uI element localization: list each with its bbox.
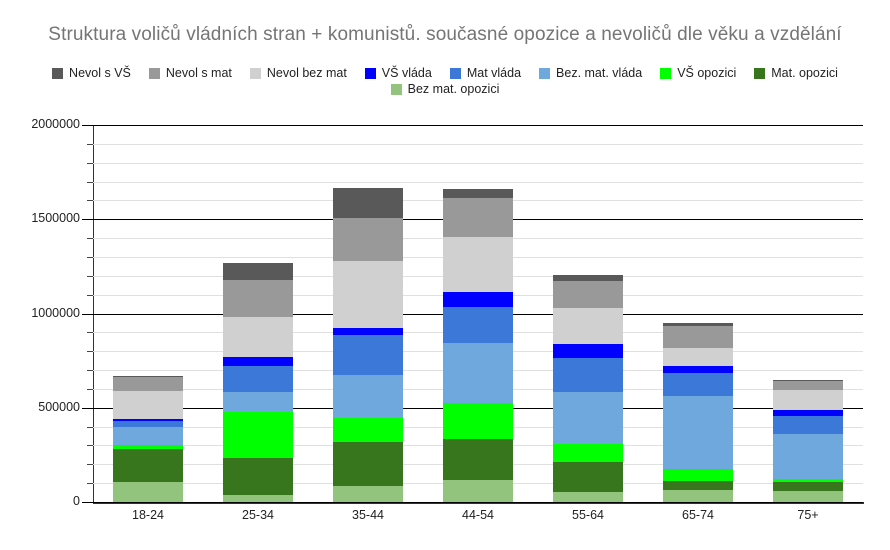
y-axis-tick bbox=[87, 182, 93, 183]
y-axis-tick bbox=[87, 238, 93, 239]
bar-segment[interactable] bbox=[223, 458, 293, 495]
bar-segment[interactable] bbox=[223, 263, 293, 280]
bar-segment[interactable] bbox=[443, 292, 513, 307]
y-axis-tick bbox=[87, 200, 93, 201]
y-axis-tick-label: 1000000 bbox=[6, 306, 80, 320]
bar-segment[interactable] bbox=[663, 373, 733, 396]
bar-segment[interactable] bbox=[443, 343, 513, 403]
y-axis-tick bbox=[87, 163, 93, 164]
legend-swatch-icon bbox=[250, 68, 261, 79]
y-axis-tick bbox=[87, 370, 93, 371]
bar-segment[interactable] bbox=[333, 486, 403, 502]
x-axis-tick-label: 75+ bbox=[748, 508, 868, 522]
y-axis-tick bbox=[82, 502, 93, 503]
bar-segment[interactable] bbox=[553, 358, 623, 392]
legend-swatch-icon bbox=[149, 68, 160, 79]
bar-stack[interactable] bbox=[223, 125, 293, 502]
y-axis-tick bbox=[82, 125, 93, 126]
bar-segment[interactable] bbox=[223, 366, 293, 392]
legend-item[interactable]: Nevol bez mat bbox=[250, 66, 347, 80]
bar-segment[interactable] bbox=[553, 344, 623, 358]
bar-segment[interactable] bbox=[663, 481, 733, 489]
bar-segment[interactable] bbox=[773, 434, 843, 479]
bar-segment[interactable] bbox=[333, 328, 403, 335]
bar-segment[interactable] bbox=[663, 396, 733, 469]
bar-stack[interactable] bbox=[333, 125, 403, 502]
y-axis-tick bbox=[82, 219, 93, 220]
bar-segment[interactable] bbox=[113, 449, 183, 482]
bar-segment[interactable] bbox=[113, 421, 183, 427]
legend-item-label: Bez mat. opozici bbox=[408, 82, 500, 96]
legend-item-label: Mat vláda bbox=[467, 66, 521, 80]
bar-stack[interactable] bbox=[553, 125, 623, 502]
legend-item-label: Nevol bez mat bbox=[267, 66, 347, 80]
legend-swatch-icon bbox=[391, 84, 402, 95]
x-axis-tick-label: 18-24 bbox=[88, 508, 208, 522]
legend-item-label: VŠ opozici bbox=[677, 66, 736, 80]
y-axis-tick bbox=[87, 464, 93, 465]
legend-swatch-icon bbox=[539, 68, 550, 79]
y-axis-tick-label: 2000000 bbox=[6, 117, 80, 131]
bar-segment[interactable] bbox=[773, 491, 843, 502]
legend-item[interactable]: Bez. mat. vláda bbox=[539, 66, 642, 80]
legend-item-label: VŠ vláda bbox=[382, 66, 432, 80]
legend-item[interactable]: Nevol s mat bbox=[149, 66, 232, 80]
bar-segment[interactable] bbox=[333, 188, 403, 218]
y-axis-tick bbox=[82, 314, 93, 315]
y-axis-tick bbox=[87, 257, 93, 258]
legend-item-label: Bez. mat. vláda bbox=[556, 66, 642, 80]
bar-segment[interactable] bbox=[773, 390, 843, 410]
y-axis-tick bbox=[87, 144, 93, 145]
bar-segment[interactable] bbox=[443, 307, 513, 343]
x-axis-tick-label: 25-34 bbox=[198, 508, 318, 522]
x-axis-tick-label: 44-54 bbox=[418, 508, 538, 522]
x-axis-tick-label: 35-44 bbox=[308, 508, 428, 522]
bar-segment[interactable] bbox=[113, 376, 183, 377]
bar-segment[interactable] bbox=[553, 308, 623, 344]
y-axis-tick bbox=[87, 445, 93, 446]
bar-segment[interactable] bbox=[223, 357, 293, 366]
bar-stack[interactable] bbox=[443, 125, 513, 502]
bar-segment[interactable] bbox=[443, 237, 513, 292]
bar-segment[interactable] bbox=[223, 317, 293, 357]
bar-segment[interactable] bbox=[773, 410, 843, 416]
bar-segment[interactable] bbox=[113, 391, 183, 419]
bar-segment[interactable] bbox=[553, 392, 623, 444]
legend-swatch-icon bbox=[660, 68, 671, 79]
bar-segment[interactable] bbox=[663, 366, 733, 374]
bar-stack[interactable] bbox=[773, 125, 843, 502]
bar-segment[interactable] bbox=[223, 495, 293, 502]
bar-segment[interactable] bbox=[333, 335, 403, 375]
y-axis-tick bbox=[87, 427, 93, 428]
bar-segment[interactable] bbox=[773, 479, 843, 482]
bar-segment[interactable] bbox=[113, 482, 183, 502]
bar-segment[interactable] bbox=[443, 189, 513, 198]
bar-segment[interactable] bbox=[553, 492, 623, 502]
legend-swatch-icon bbox=[365, 68, 376, 79]
legend-item[interactable]: Mat. opozici bbox=[754, 66, 838, 80]
y-axis-tick bbox=[87, 483, 93, 484]
chart-container: Struktura voličů vládních stran + komuni… bbox=[0, 0, 890, 550]
legend-item[interactable]: Bez mat. opozici bbox=[391, 82, 500, 96]
bar-segment[interactable] bbox=[443, 403, 513, 439]
bar-segment[interactable] bbox=[553, 275, 623, 281]
bar-segment[interactable] bbox=[113, 445, 183, 449]
bar-segment[interactable] bbox=[773, 381, 843, 390]
x-axis-tick-label: 65-74 bbox=[638, 508, 758, 522]
chart-legend: Nevol s VŠNevol s matNevol bez matVŠ vlá… bbox=[25, 66, 865, 96]
bar-segment[interactable] bbox=[443, 198, 513, 237]
y-axis-tick-label: 0 bbox=[6, 494, 80, 508]
bar-segment[interactable] bbox=[443, 480, 513, 502]
legend-item-label: Nevol s mat bbox=[166, 66, 232, 80]
gridline-major bbox=[93, 502, 863, 503]
legend-item[interactable]: VŠ vláda bbox=[365, 66, 432, 80]
bar-segment[interactable] bbox=[333, 442, 403, 486]
bar-stack[interactable] bbox=[663, 125, 733, 502]
legend-swatch-icon bbox=[754, 68, 765, 79]
bar-segment[interactable] bbox=[113, 427, 183, 445]
y-axis-tick bbox=[87, 276, 93, 277]
y-axis-tick-label: 500000 bbox=[6, 400, 80, 414]
bar-segment[interactable] bbox=[333, 418, 403, 442]
bar-segment[interactable] bbox=[553, 281, 623, 308]
bar-segment[interactable] bbox=[663, 490, 733, 502]
bar-segment[interactable] bbox=[223, 412, 293, 458]
y-axis-tick bbox=[82, 408, 93, 409]
bar-stack[interactable] bbox=[113, 125, 183, 502]
bar-segment[interactable] bbox=[773, 416, 843, 434]
bar-segment[interactable] bbox=[223, 280, 293, 317]
bar-segment[interactable] bbox=[333, 218, 403, 261]
chart-title: Struktura voličů vládních stran + komuni… bbox=[0, 24, 890, 46]
y-axis-labels: 0500000100000015000002000000 bbox=[0, 0, 80, 550]
bar-segment[interactable] bbox=[553, 444, 623, 462]
bar-segment[interactable] bbox=[663, 326, 733, 348]
y-axis-tick bbox=[87, 389, 93, 390]
bar-segment[interactable] bbox=[663, 469, 733, 481]
y-axis-tick bbox=[87, 332, 93, 333]
bar-segment[interactable] bbox=[773, 482, 843, 491]
bar-segment[interactable] bbox=[333, 375, 403, 418]
bar-segment[interactable] bbox=[113, 419, 183, 421]
bar-segment[interactable] bbox=[663, 323, 733, 326]
bar-segment[interactable] bbox=[663, 348, 733, 366]
legend-item-label: Mat. opozici bbox=[771, 66, 838, 80]
bar-segment[interactable] bbox=[333, 261, 403, 328]
legend-item[interactable]: Mat vláda bbox=[450, 66, 521, 80]
y-axis-tick-label: 1500000 bbox=[6, 211, 80, 225]
bar-segment[interactable] bbox=[773, 380, 843, 381]
legend-item[interactable]: VŠ opozici bbox=[660, 66, 736, 80]
legend-swatch-icon bbox=[450, 68, 461, 79]
bar-segment[interactable] bbox=[553, 462, 623, 492]
y-axis-tick bbox=[87, 351, 93, 352]
plot-area bbox=[93, 125, 863, 502]
y-axis-tick bbox=[87, 295, 93, 296]
bar-segment[interactable] bbox=[223, 392, 293, 412]
x-axis-tick-label: 55-64 bbox=[528, 508, 648, 522]
bar-segment[interactable] bbox=[443, 439, 513, 480]
bar-segment[interactable] bbox=[113, 377, 183, 391]
